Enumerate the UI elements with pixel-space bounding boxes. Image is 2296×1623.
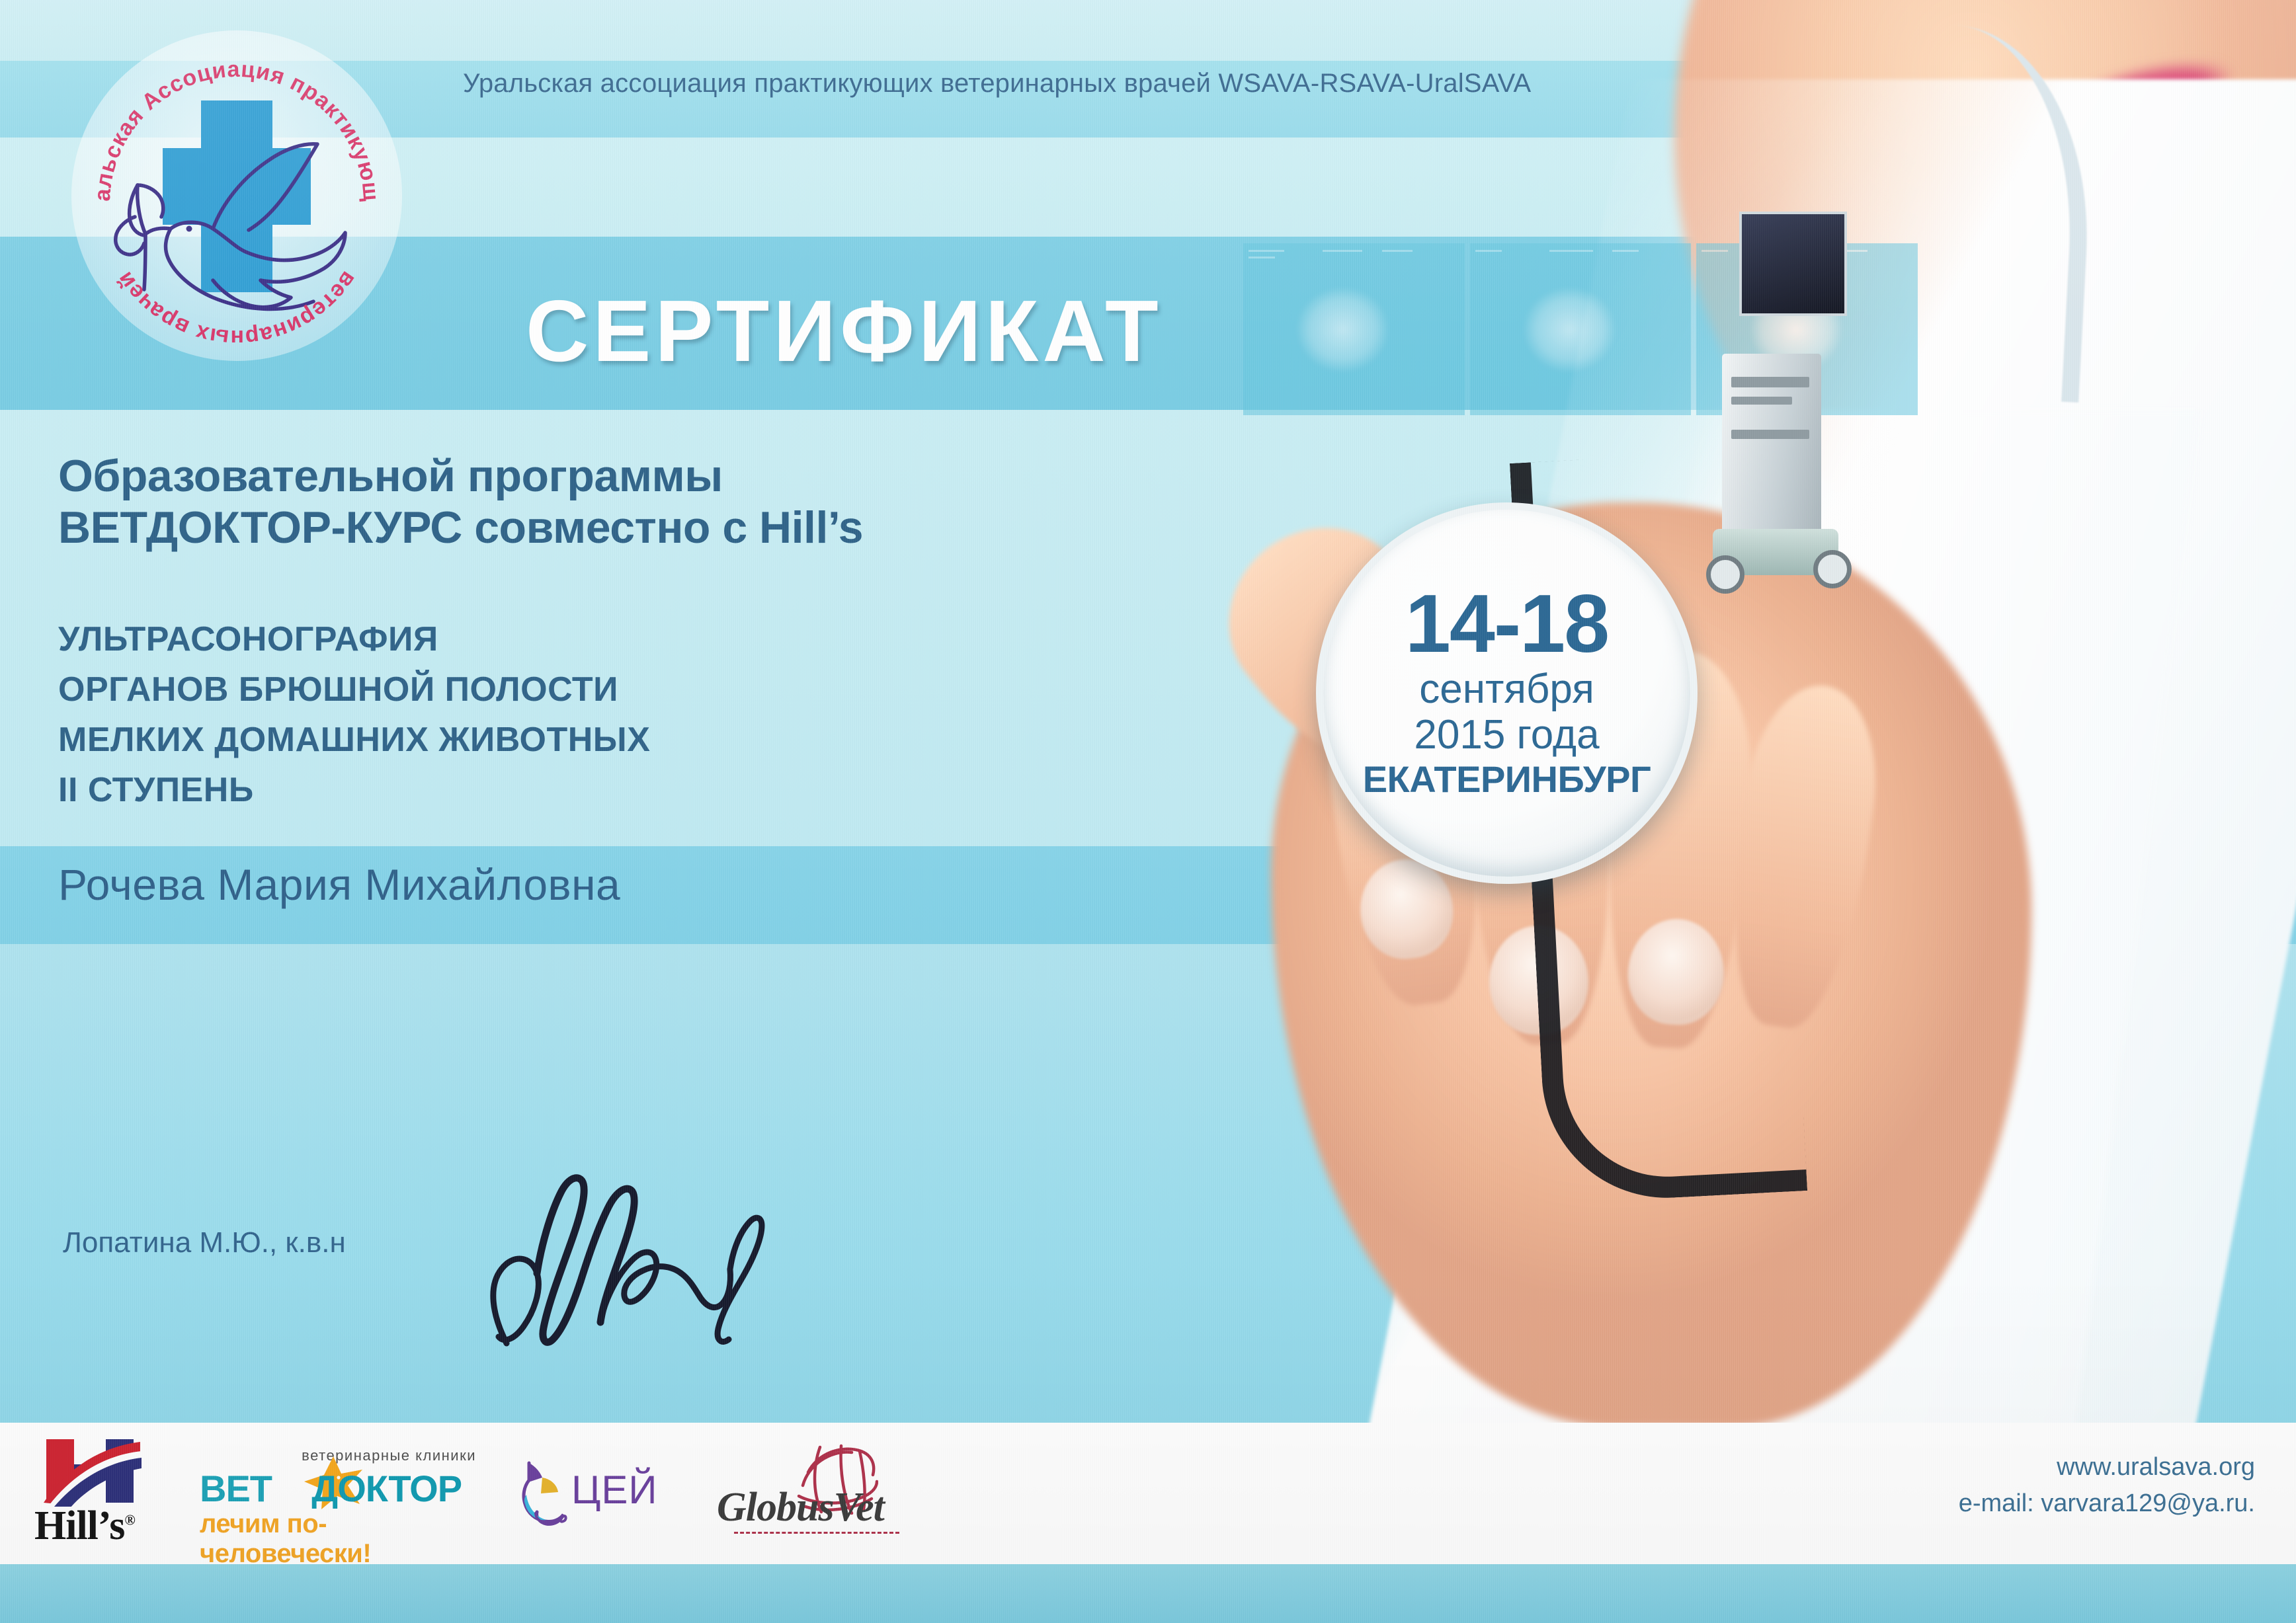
hills-wordmark: Hill’s® <box>34 1503 135 1550</box>
badge-year: 2015 года <box>1414 712 1599 758</box>
vetdoctor-wordmark: ВЕТ__ДОКТОР <box>200 1467 462 1510</box>
email-address[interactable]: e-mail: varvara129@ya.ru. <box>1959 1485 2255 1522</box>
cat-icon <box>521 1458 573 1532</box>
contact-info: www.uralsava.org e-mail: varvara129@ya.r… <box>1959 1449 2255 1522</box>
subject-line-3: МЕЛКИХ ДОМАШНИХ ЖИВОТНЫХ <box>58 715 650 766</box>
footer: Hill’s® ветеринарные клиники ВЕТ__ДОКТОР… <box>0 1423 2296 1564</box>
program-line-1: Образовательной программы <box>58 451 863 502</box>
subject-line-1: УЛЬТРАСОНОГРАФИЯ <box>58 615 650 665</box>
vetdoctor-logo: ветеринарные клиники ВЕТ__ДОКТОР лечим п… <box>200 1445 477 1544</box>
cey-wordmark: ЦЕЙ <box>571 1467 658 1513</box>
globusvet-underline <box>734 1532 899 1534</box>
vetdoctor-slogan: лечим по-человечески! <box>200 1509 477 1569</box>
subject-block: УЛЬТРАСОНОГРАФИЯ ОРГАНОВ БРЮШНОЙ ПОЛОСТИ… <box>58 615 650 816</box>
program-line-2: ВЕТДОКТОР-КУРС совместно с Hill’s <box>58 502 863 554</box>
globusvet-logo: GlobusVet <box>717 1445 915 1544</box>
ultrasound-image <box>1243 243 1465 415</box>
association-logo: Уральская Ассоциация практикующих ветери… <box>71 30 402 361</box>
website-url[interactable]: www.uralsava.org <box>1959 1449 2255 1485</box>
cey-logo: ЦЕЙ <box>521 1451 673 1537</box>
badge-city: ЕКАТЕРИНБУРГ <box>1363 758 1651 801</box>
subject-line-2: ОРГАНОВ БРЮШНОЙ ПОЛОСТИ <box>58 665 650 715</box>
handwritten-signature <box>463 1164 807 1349</box>
page-title: СЕРТИФИКАТ <box>526 281 1163 381</box>
badge-dates: 14-18 <box>1405 586 1608 664</box>
ultrasound-machine-icon <box>1700 212 1865 582</box>
registered-mark: ® <box>124 1511 134 1528</box>
subject-line-4: II СТУПЕНЬ <box>58 766 650 816</box>
badge-month: сентября <box>1419 666 1594 712</box>
ultrasound-image <box>1470 243 1692 415</box>
event-date-badge: 14-18 сентября 2015 года ЕКАТЕРИНБУРГ <box>1316 502 1698 884</box>
signer-name: Лопатина М.Ю., к.в.н <box>63 1226 346 1259</box>
hills-mark-icon <box>42 1435 142 1507</box>
medical-cross-icon <box>163 100 311 292</box>
recipient-name: Рочева Мария Михайловна <box>58 859 620 910</box>
certificate-page: Уральская Ассоциация практикующих ветери… <box>0 0 2296 1623</box>
sponsor-logos: Hill’s® ветеринарные клиники ВЕТ__ДОКТОР… <box>30 1428 915 1560</box>
band-9 <box>0 1564 2296 1623</box>
association-header-line: Уральская ассоциация практикующих ветери… <box>463 69 1531 99</box>
program-block: Образовательной программы ВЕТДОКТОР-КУРС… <box>58 451 863 553</box>
hills-logo: Hill’s® <box>30 1431 156 1557</box>
globusvet-wordmark: GlobusVet <box>717 1484 884 1531</box>
